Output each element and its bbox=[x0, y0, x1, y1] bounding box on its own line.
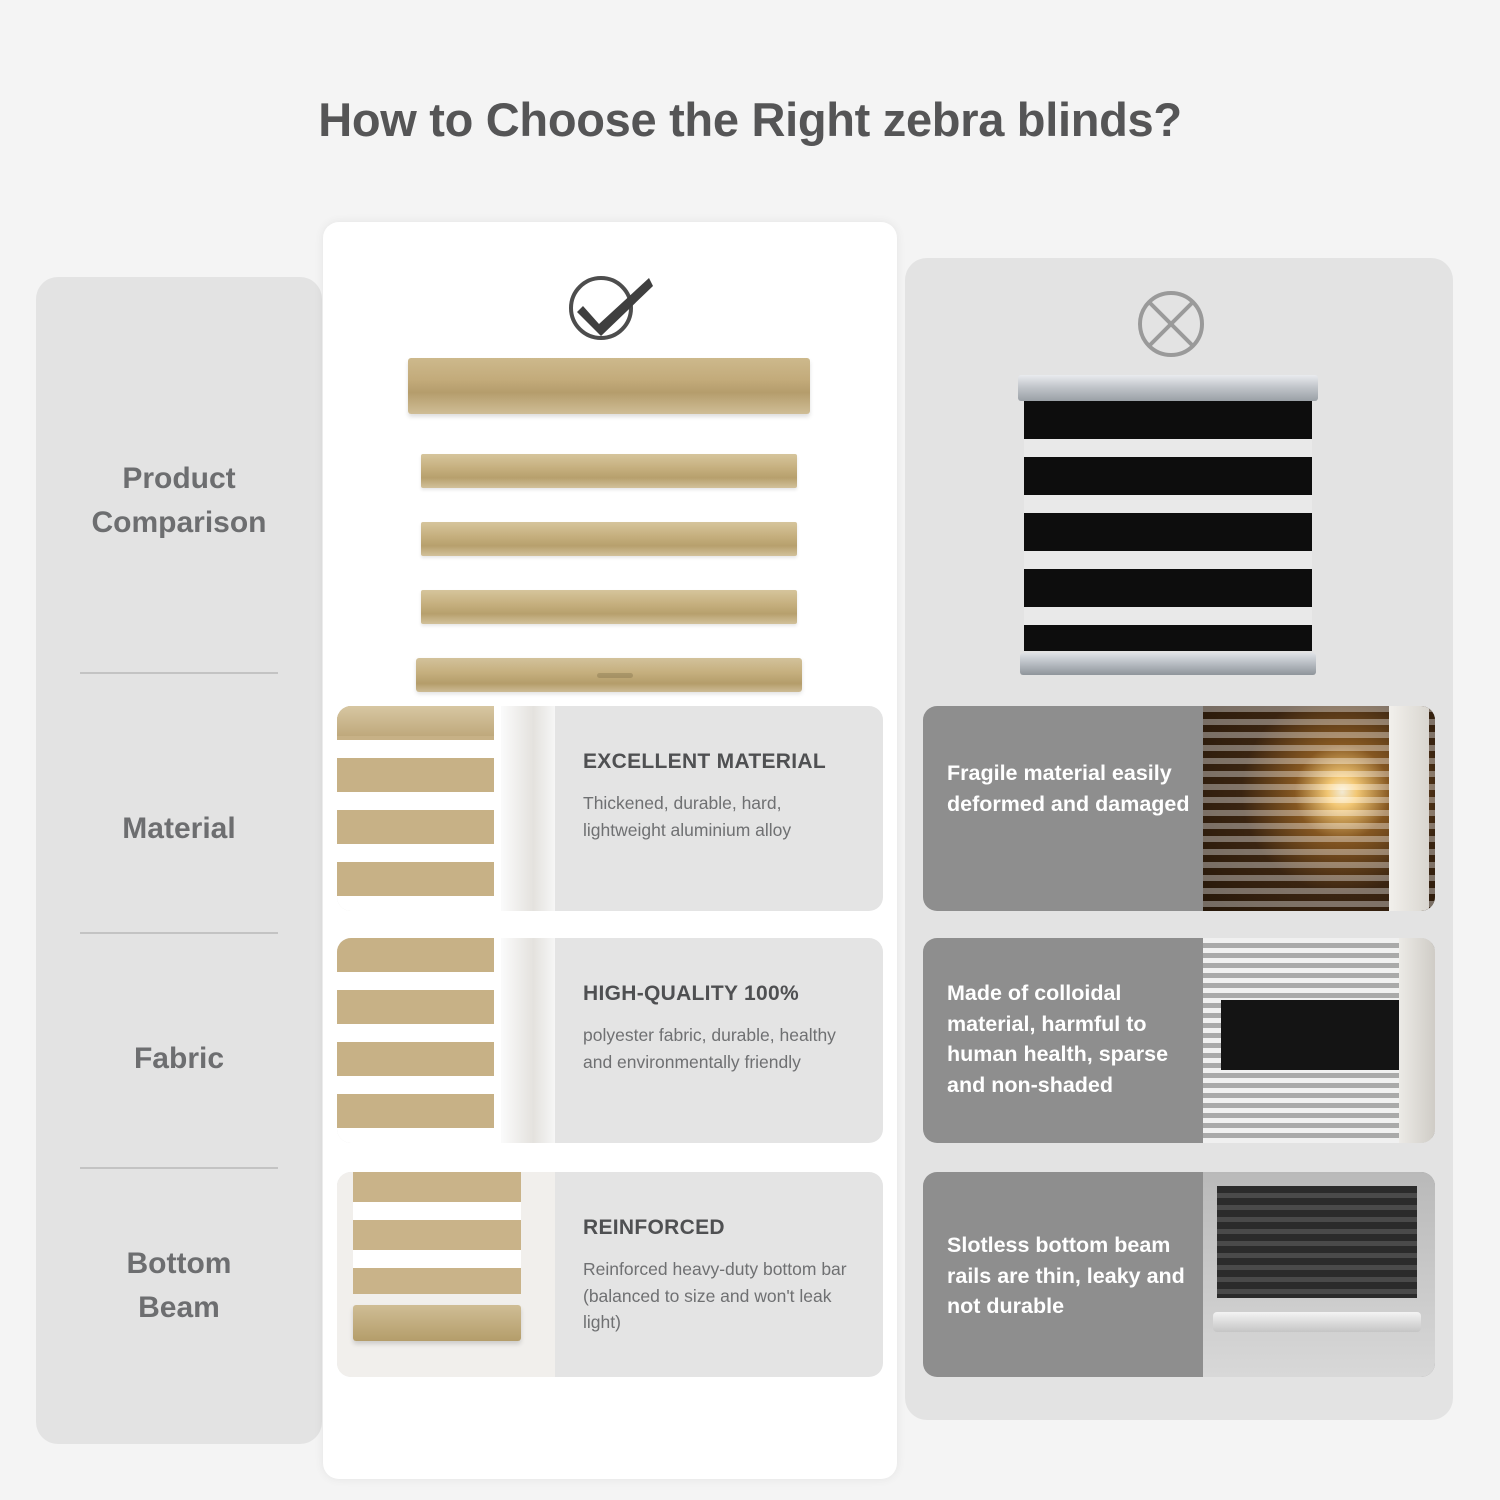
reinforced-bottom-bar bbox=[353, 1305, 521, 1341]
good-feature-body: polyester fabric, durable, healthy and e… bbox=[583, 1022, 863, 1075]
bottom-beam bbox=[1020, 653, 1316, 675]
window-frame bbox=[494, 706, 555, 911]
row-divider-1 bbox=[80, 672, 278, 674]
good-feature-card-material: EXCELLENT MATERIAL Thickened, durable, h… bbox=[337, 706, 883, 911]
bad-feature-card-bottom-beam: Slotless bottom beam rails are thin, lea… bbox=[923, 1172, 1435, 1377]
row-label-fabric: Fabric bbox=[36, 1037, 322, 1081]
bad-feature-text: Slotless bottom beam rails are thin, lea… bbox=[947, 1230, 1209, 1322]
bad-hero-image bbox=[1018, 375, 1318, 680]
good-feature-heading: EXCELLENT MATERIAL bbox=[583, 750, 863, 774]
good-feature-body: Reinforced heavy-duty bottom bar (balanc… bbox=[583, 1256, 863, 1336]
sunlight-leak-photo bbox=[1203, 706, 1435, 911]
good-feature-card-fabric: HIGH-QUALITY 100% polyester fabric, dura… bbox=[337, 938, 883, 1143]
bad-feature-image-fabric bbox=[1203, 938, 1435, 1143]
row-label-product-comparison-line2: Comparison bbox=[36, 501, 322, 545]
bad-feature-text: Fragile material easily deformed and dam… bbox=[947, 758, 1209, 819]
row-divider-3 bbox=[80, 1167, 278, 1169]
headrail bbox=[408, 358, 810, 414]
zebra-fabric-swatch bbox=[337, 706, 517, 911]
bad-feature-image-material bbox=[1203, 706, 1435, 911]
window-frame bbox=[494, 938, 555, 1143]
zebra-fabric-swatch bbox=[353, 1172, 521, 1294]
good-feature-text-material: EXCELLENT MATERIAL Thickened, durable, h… bbox=[583, 750, 863, 843]
bad-feature-image-bottom-beam bbox=[1203, 1172, 1435, 1377]
slat bbox=[421, 454, 797, 488]
bottom-beam bbox=[416, 658, 802, 692]
bad-feature-text: Made of colloidal material, harmful to h… bbox=[947, 978, 1209, 1100]
thin-beam-photo bbox=[1203, 1172, 1435, 1377]
row-label-product-comparison-line1: Product bbox=[36, 457, 322, 501]
slat bbox=[421, 522, 797, 556]
check-mark-icon bbox=[565, 272, 657, 344]
good-feature-text-bottom-beam: REINFORCED Reinforced heavy-duty bottom … bbox=[583, 1216, 863, 1336]
bad-feature-card-material: Fragile material easily deformed and dam… bbox=[923, 706, 1435, 911]
good-feature-heading: HIGH-QUALITY 100% bbox=[583, 982, 863, 1006]
row-label-material: Material bbox=[36, 807, 322, 851]
good-feature-image-bottom-beam bbox=[337, 1172, 555, 1377]
good-hero-image bbox=[408, 358, 810, 698]
row-divider-2 bbox=[80, 932, 278, 934]
good-feature-heading: REINFORCED bbox=[583, 1216, 863, 1240]
row-label-bottom-beam-line1: Bottom bbox=[36, 1242, 322, 1286]
row-label-bottom-beam-line2: Beam bbox=[36, 1286, 322, 1330]
row-label-bottom-beam: Bottom Beam bbox=[36, 1242, 322, 1329]
good-feature-image-fabric bbox=[337, 938, 555, 1143]
good-feature-body: Thickened, durable, hard, lightweight al… bbox=[583, 790, 863, 843]
headrail bbox=[1018, 375, 1318, 401]
slat bbox=[421, 590, 797, 624]
row-label-panel: Product Comparison Material Fabric Botto… bbox=[36, 277, 322, 1444]
good-feature-image-material bbox=[337, 706, 555, 911]
good-feature-text-fabric: HIGH-QUALITY 100% polyester fabric, dura… bbox=[583, 982, 863, 1075]
sparse-fabric-photo bbox=[1203, 938, 1435, 1143]
page-title: How to Choose the Right zebra blinds? bbox=[0, 92, 1500, 147]
zebra-fabric-swatch bbox=[337, 938, 517, 1143]
zebra-fabric bbox=[1024, 401, 1312, 651]
row-label-product-comparison: Product Comparison bbox=[36, 457, 322, 544]
cross-circle-icon bbox=[1135, 288, 1207, 360]
good-feature-card-bottom-beam: REINFORCED Reinforced heavy-duty bottom … bbox=[337, 1172, 883, 1377]
bad-feature-card-fabric: Made of colloidal material, harmful to h… bbox=[923, 938, 1435, 1143]
